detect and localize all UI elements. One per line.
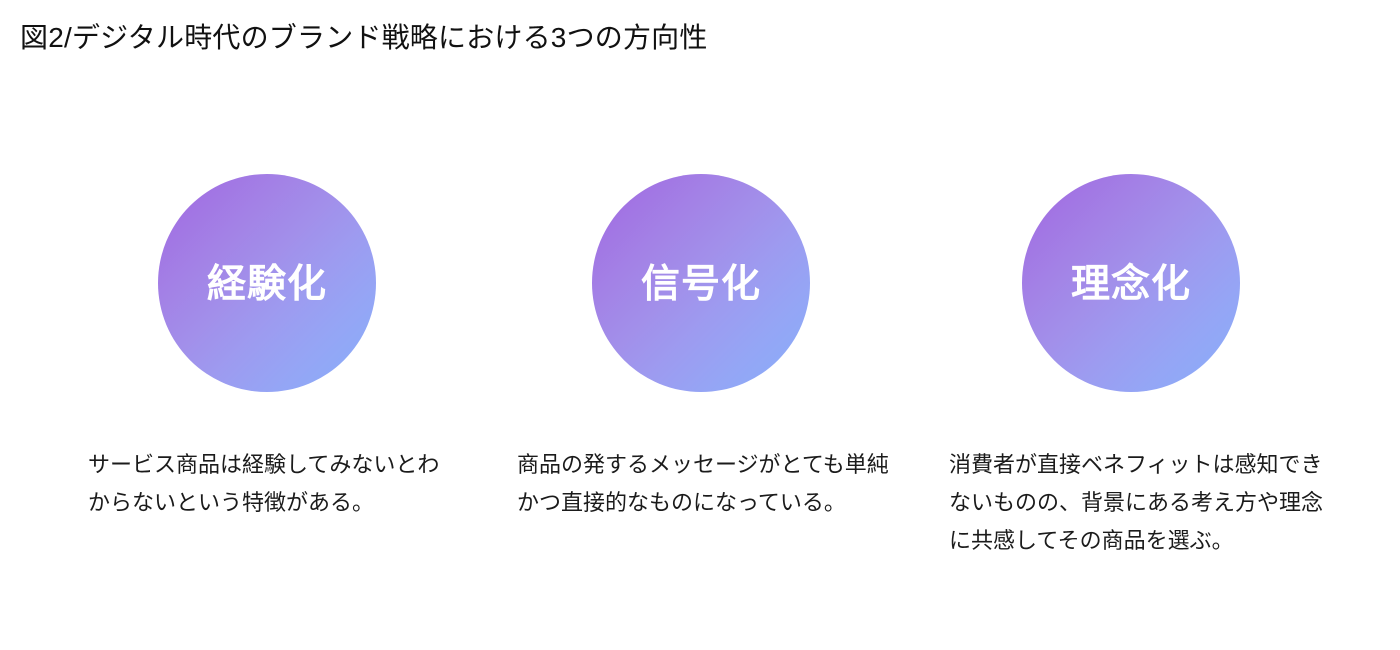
circle-wrap-experience: 経験化 bbox=[52, 174, 482, 392]
circle-label-signal: 信号化 bbox=[641, 265, 761, 304]
concept-caption-experience: サービス商品は経験してみないとわからないという特徴がある。 bbox=[88, 446, 460, 522]
circle-wrap-philosophy: 理念化 bbox=[916, 174, 1346, 392]
concept-columns: 経験化 サービス商品は経験してみないとわからないという特徴がある。 信号化 商品… bbox=[0, 0, 1400, 650]
gradient-circle-signal[interactable]: 信号化 bbox=[592, 174, 810, 392]
gradient-circle-philosophy[interactable]: 理念化 bbox=[1022, 174, 1240, 392]
concept-column-experience: 経験化 サービス商品は経験してみないとわからないという特徴がある。 bbox=[52, 174, 482, 392]
circle-label-philosophy: 理念化 bbox=[1071, 265, 1191, 304]
concept-column-signal: 信号化 商品の発するメッセージがとても単純かつ直接的なものになっている。 bbox=[486, 174, 916, 392]
concept-column-philosophy: 理念化 消費者が直接ベネフィットは感知できないものの、背景にある考え方や理念に共… bbox=[916, 174, 1346, 392]
circle-label-experience: 経験化 bbox=[207, 265, 327, 304]
gradient-circle-experience[interactable]: 経験化 bbox=[158, 174, 376, 392]
circle-wrap-signal: 信号化 bbox=[486, 174, 916, 392]
figure-container: 図2/デジタル時代のブランド戦略における3つの方向性 経験化 サービス商品は経験… bbox=[0, 0, 1400, 650]
concept-caption-philosophy: 消費者が直接ベネフィットは感知できないものの、背景にある考え方や理念に共感してそ… bbox=[949, 446, 1327, 560]
concept-caption-signal: 商品の発するメッセージがとても単純かつ直接的なものになっている。 bbox=[517, 446, 891, 522]
